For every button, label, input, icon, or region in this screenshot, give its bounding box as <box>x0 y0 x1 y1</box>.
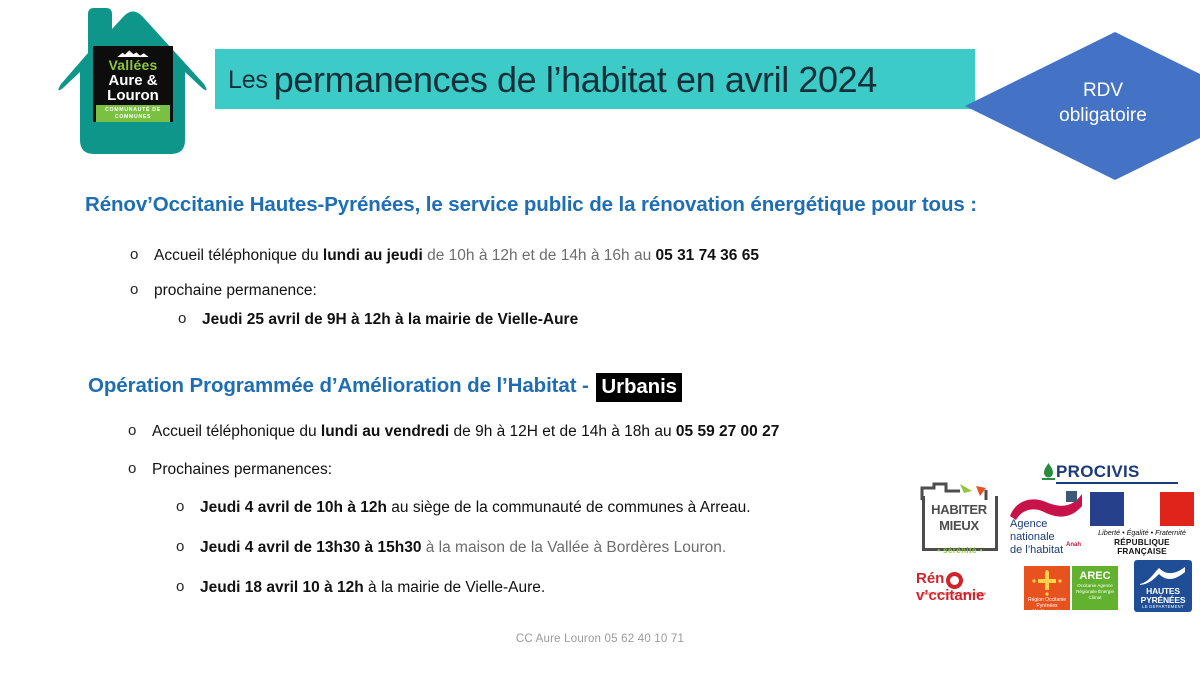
procivis-logo: PROCIVIS <box>1040 462 1190 484</box>
logo-line-1: Vallées <box>109 58 158 73</box>
list-item: o Jeudi 25 avril de 9H à 12h à la mairie… <box>178 310 578 330</box>
hautes-line-3: LE DÉPARTEMENT <box>1134 604 1192 609</box>
renov-occitanie-logo: Rén v’ccitanie Mon rénovation énergétiqu… <box>916 570 1012 610</box>
habiter-tagline: • sérénité • <box>918 546 1002 555</box>
text-part-bold: Jeudi 4 avril de 13h30 à 15h30 <box>200 539 421 556</box>
procivis-underline <box>1056 482 1178 484</box>
bullet-marker: o <box>178 310 202 330</box>
text-part-bold: lundi au vendredi <box>321 423 449 440</box>
anah-label: Agence nationale de l’habitat <box>1010 518 1068 557</box>
arec-logo: AREC Occitanie Agence Régionale Énergie … <box>1072 566 1118 610</box>
flag-white <box>1124 492 1160 526</box>
flag-red <box>1160 492 1194 526</box>
logo-tagline: COMMUNAUTÉ DE COMMUNES <box>96 105 170 122</box>
list-item: o Prochaines permanences: <box>128 460 332 480</box>
renov-label: Rén v’ccitanie <box>916 570 1012 604</box>
phone-number: 05 31 74 36 65 <box>656 247 759 264</box>
bullet-marker: o <box>128 422 152 442</box>
list-item-text: prochaine permanence: <box>154 281 317 301</box>
french-flag-icon <box>1090 492 1194 526</box>
page-title: Les permanences de l’habitat en avril 20… <box>228 55 988 105</box>
logo-line-2: Aure & <box>108 73 157 88</box>
republique-francaise-logo: Liberté • Égalité • Fraternité RÉPUBLIQU… <box>1090 492 1194 554</box>
bullet-marker: o <box>128 460 152 480</box>
footer-contact: CC Aure Louron 05 62 40 10 71 <box>0 633 1200 645</box>
urbanis-badge: Urbanis <box>596 373 682 402</box>
logo-plate: Vallées Aure & Louron COMMUNAUTÉ DE COMM… <box>93 46 173 122</box>
anah-mark: Anah <box>1066 542 1081 548</box>
list-item-text: Jeudi 25 avril de 9H à 12h à la mairie d… <box>202 310 578 330</box>
flag-blue <box>1090 492 1124 526</box>
rdv-badge-line-2: obligatoire <box>1018 103 1188 128</box>
list-item: o Jeudi 4 avril de 13h30 à 15h30 à la ma… <box>176 538 726 558</box>
list-item: o Accueil téléphonique du lundi au jeudi… <box>130 246 759 266</box>
page-title-prefix: Les <box>228 66 268 95</box>
bullet-marker: o <box>176 498 200 518</box>
text-part-grey: à la maison de la Vallée à Bordères Lour… <box>421 539 726 556</box>
list-item: o Accueil téléphonique du lundi au vendr… <box>128 422 779 442</box>
procivis-label: PROCIVIS <box>1056 462 1140 482</box>
phone-number: 05 59 27 00 27 <box>676 423 779 440</box>
list-item-text: Jeudi 18 avril 10 à 12h à la mairie de V… <box>200 578 545 598</box>
anah-logo: Agence nationale de l’habitat Anah <box>1010 490 1086 556</box>
bullet-marker: o <box>176 538 200 558</box>
list-item-text: Accueil téléphonique du lundi au vendred… <box>152 422 779 442</box>
renov-tagline: Mon rénovation énergétique <box>924 591 986 596</box>
hautes-pyrenees-mountain-icon <box>1139 564 1187 586</box>
renov-circle-inner-icon <box>950 576 959 585</box>
anah-square-icon <box>1066 491 1077 502</box>
list-item: o prochaine permanence: <box>130 281 317 301</box>
hautes-pyrenees-logo: HAUTES PYRÉNÉES LE DÉPARTEMENT <box>1134 560 1192 612</box>
text-part: Accueil téléphonique du <box>152 423 321 440</box>
communaute-logo: Vallées Aure & Louron COMMUNAUTÉ DE COMM… <box>50 2 215 162</box>
rdv-badge-text: RDV obligatoire <box>1018 78 1188 128</box>
bullet-marker: o <box>130 246 154 266</box>
section-1-heading: Rénov’Occitanie Hautes-Pyrénées, le serv… <box>85 192 1065 218</box>
text-part-bold: lundi au jeudi <box>323 247 423 264</box>
occitanie-cross-icon <box>1032 570 1062 596</box>
text-part-bold: Jeudi 18 avril 10 à 12h <box>200 579 364 596</box>
habiter-line-1: HABITER <box>924 502 994 517</box>
text-part: au siège de la communauté de communes à … <box>387 499 751 516</box>
list-item-text: Prochaines permanences: <box>152 460 332 480</box>
procivis-leaf-icon <box>1042 463 1055 481</box>
bullet-marker: o <box>176 578 200 598</box>
habiter-line-2: MIEUX <box>924 518 994 533</box>
republique-name: RÉPUBLIQUE FRANÇAISE <box>1090 538 1194 556</box>
list-item: o Jeudi 4 avril de 10h à 12h au siège de… <box>176 498 751 518</box>
rdv-badge-line-1: RDV <box>1018 78 1188 103</box>
list-item-text: Jeudi 4 avril de 10h à 12h au siège de l… <box>200 498 751 518</box>
bullet-marker: o <box>130 281 154 301</box>
republique-motto: Liberté • Égalité • Fraternité <box>1090 528 1194 537</box>
text-part-grey: de 10h à 12h et de 14h à 16h au <box>423 247 656 264</box>
text-part: Accueil téléphonique du <box>154 247 323 264</box>
habiter-mieux-logo: HABITER MIEUX • sérénité • <box>914 480 1006 560</box>
text-part: à la mairie de Vielle-Aure. <box>364 579 546 596</box>
list-item-text: Jeudi 4 avril de 13h30 à 15h30 à la mais… <box>200 538 726 558</box>
section-2-heading-text: Opération Programmée d’Amélioration de l… <box>88 374 594 397</box>
occitanie-label: Région Occitanie Pyrénées Méditerranée <box>1024 597 1070 615</box>
text-part-bold: Jeudi 4 avril de 10h à 12h <box>200 499 387 516</box>
page-header: Vallées Aure & Louron COMMUNAUTÉ DE COMM… <box>0 0 1200 180</box>
page-title-main: permanences de l’habitat en avril 2024 <box>274 59 877 101</box>
partner-logos: PROCIVIS HABITER MIEUX • sérénité • Agen… <box>912 462 1200 612</box>
list-item-text: Accueil téléphonique du lundi au jeudi d… <box>154 246 759 266</box>
occitanie-logo: Région Occitanie Pyrénées Méditerranée <box>1024 566 1070 610</box>
arec-label: AREC <box>1072 570 1118 582</box>
arec-tagline: Occitanie Agence Régionale Énergie Clima… <box>1072 583 1118 601</box>
text-part: de 9h à 12H et de 14h à 18h au <box>449 423 676 440</box>
logo-line-3: Louron <box>107 88 159 103</box>
list-item: o Jeudi 18 avril 10 à 12h à la mairie de… <box>176 578 545 598</box>
section-2-heading: Opération Programmée d’Amélioration de l… <box>88 373 988 402</box>
